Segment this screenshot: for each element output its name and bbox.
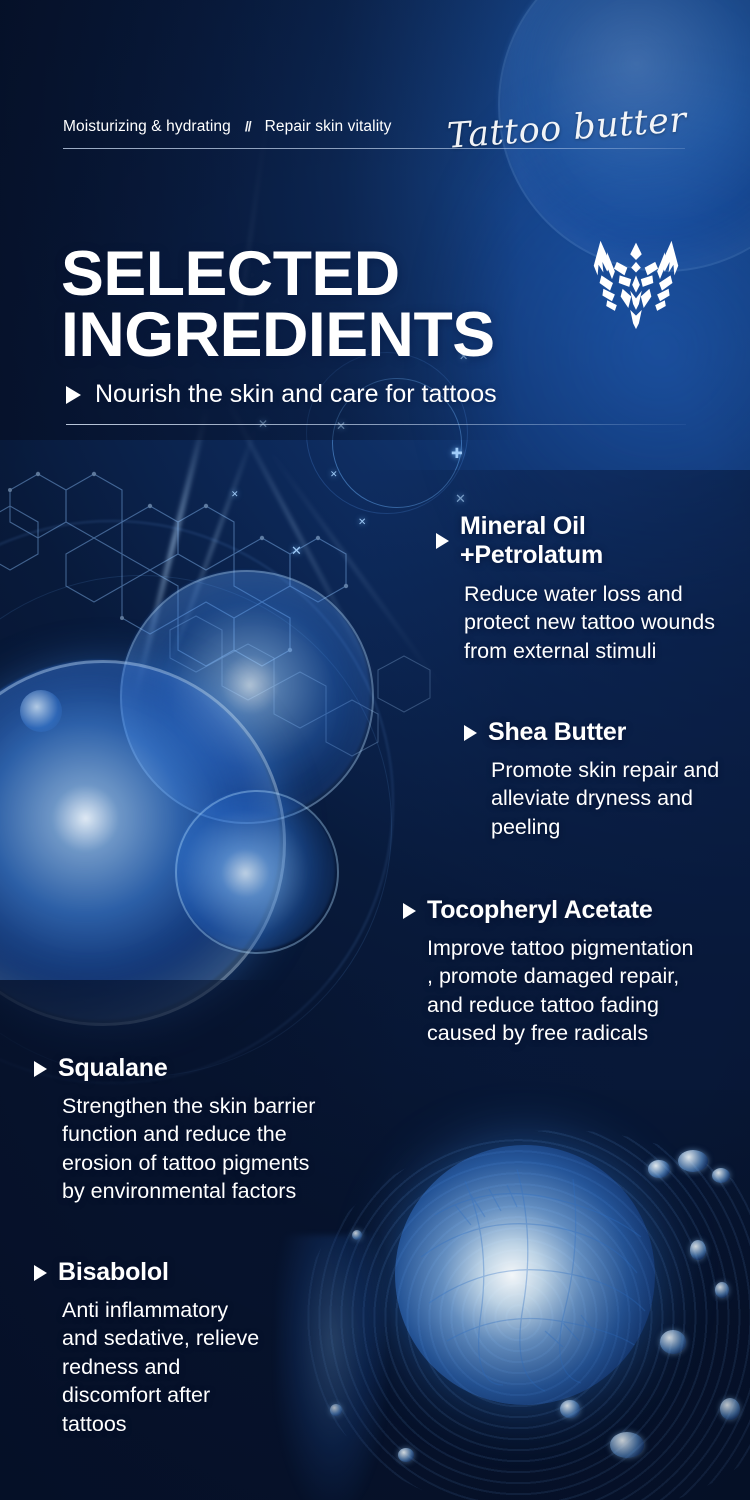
tagline-right: Repair skin vitality [265,118,392,136]
ingredient-name: Shea Butter [488,718,626,747]
ingredient-item: Squalane Strengthen the skin barrier fun… [34,1054,364,1206]
subtitle-text: Nourish the skin and care for tattoos [95,380,497,409]
ingredient-name: Squalane [58,1054,168,1083]
ingredient-description: Anti inflammatory and sedative, relieve … [62,1296,302,1438]
triangle-right-icon [436,533,449,549]
tagline-separator: // [245,118,251,134]
tagline-row: Moisturizing & hydrating // Repair skin … [63,118,392,136]
poster-content: Moisturizing & hydrating // Repair skin … [0,0,750,1500]
page-subtitle: Nourish the skin and care for tattoos [66,380,497,409]
wolf-head-logo-icon [588,233,684,333]
ingredient-description: Reduce water loss and protect new tattoo… [464,580,736,665]
triangle-right-icon [34,1265,47,1281]
ingredient-heading: Shea Butter [464,718,736,747]
ingredient-name: Bisabolol [58,1258,169,1287]
ingredient-name: Mineral Oil +Petrolatum [460,512,603,570]
triangle-right-icon [464,725,477,741]
triangle-right-icon [403,903,416,919]
tagline-left: Moisturizing & hydrating [63,118,231,136]
ingredient-description: Strengthen the skin barrier function and… [62,1092,364,1206]
page-title: SELECTED INGREDIENTS [61,244,495,366]
title-line-2: INGREDIENTS [61,305,495,366]
ingredient-item: Bisabolol Anti inflammatory and sedative… [34,1258,302,1438]
ingredient-heading: Squalane [34,1054,364,1083]
title-line-1: SELECTED [61,239,400,309]
ingredient-item: Mineral Oil +Petrolatum Reduce water los… [436,512,736,665]
ingredient-heading: Mineral Oil +Petrolatum [436,512,736,570]
ingredient-heading: Tocopheryl Acetate [403,896,743,925]
ingredient-description: Improve tattoo pigmentation , promote da… [427,934,743,1048]
ingredient-heading: Bisabolol [34,1258,302,1287]
ingredient-name: Tocopheryl Acetate [427,896,653,925]
triangle-right-icon [34,1061,47,1077]
header-divider [63,148,685,149]
product-infographic-poster: ✕ ✕ ✕ ✕ ✕ ✕ ✕ ✚ ✕ ✕ [0,0,750,1500]
ingredient-item: Shea Butter Promote skin repair and alle… [436,718,736,841]
triangle-right-icon [66,386,81,404]
ingredient-item: Tocopheryl Acetate Improve tattoo pigmen… [403,896,743,1048]
ingredient-description: Promote skin repair and alleviate drynes… [491,756,736,841]
subtitle-divider [66,424,686,425]
